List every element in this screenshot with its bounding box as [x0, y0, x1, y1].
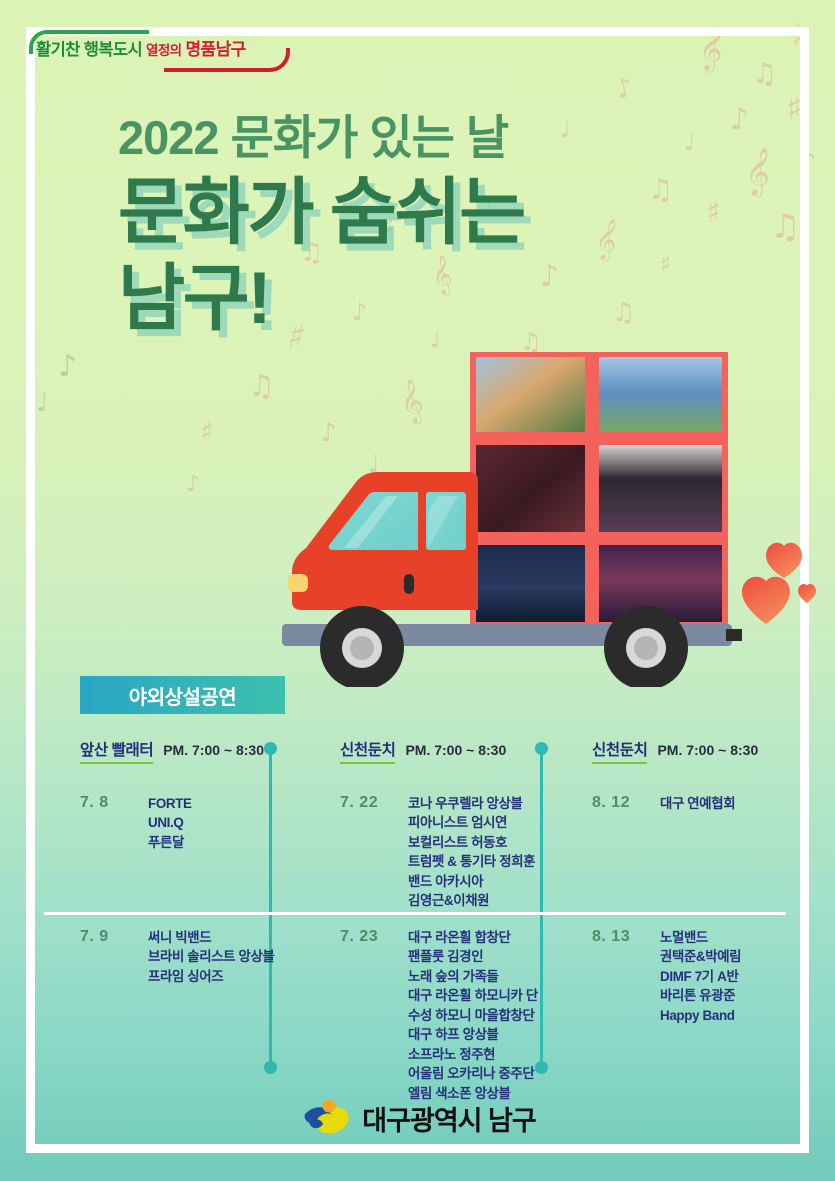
act-item: 밴드 아카시아	[408, 872, 535, 891]
act-item: 코나 우쿠렐라 앙상블	[408, 794, 535, 813]
red-delivery-truck	[278, 352, 748, 687]
act-item: 노래 숲의 가족들	[408, 967, 538, 986]
venue-time-1: PM. 7:00 ~ 8:30	[163, 742, 264, 758]
schedule-column-1-row2: 7. 9 써니 빅밴드 브라비 솔리스트 앙상블 프라임 싱어즈	[44, 928, 296, 1103]
headline-year-line: 2022 문화가 있는 날	[118, 112, 524, 164]
footer-logo-row: 대구광역시 남구	[0, 1098, 835, 1138]
act-item: 트럼펫 & 통기타 정희훈	[408, 852, 535, 871]
act-item: 대구 라온휠 하모니카 단	[408, 986, 538, 1005]
entry-date: 7. 9	[80, 928, 138, 986]
schedule-column-1: 앞산 빨래터 PM. 7:00 ~ 8:30 7. 8 FORTE UNI.Q …	[44, 738, 296, 911]
schedule-column-2-row2: 7. 23 대구 라온휠 합창단 팬플룻 김경인 노래 숲의 가족들 대구 라온…	[296, 928, 548, 1103]
act-item: 권택준&박예림	[660, 947, 741, 966]
venue-line-1: 앞산 빨래터 PM. 7:00 ~ 8:30	[80, 738, 296, 764]
schedule-entry: 7. 22 코나 우쿠렐라 앙상블 피아니스트 엄시연 보컬리스트 허동호 트럼…	[340, 794, 548, 911]
headline-big-line1-text: 문화가 숨쉬는	[118, 172, 524, 253]
act-item: 대구 하프 앙상블	[408, 1025, 538, 1044]
footer-org-name: 대구광역시 남구	[362, 1099, 535, 1138]
act-item: 보컬리스트 허동호	[408, 833, 535, 852]
venue-name-1: 앞산 빨래터	[80, 738, 153, 764]
schedule-grid: 앞산 빨래터 PM. 7:00 ~ 8:30 7. 8 FORTE UNI.Q …	[44, 738, 792, 1110]
act-item: 대구 연예협회	[660, 794, 735, 813]
act-item: 바리톤 유광준	[660, 986, 741, 1005]
act-item: 프라임 싱어즈	[148, 967, 274, 986]
act-item: FORTE	[148, 794, 192, 813]
venue-name-2: 신천둔치	[340, 738, 395, 764]
act-item: 수성 하모니 마을합창단	[408, 1006, 538, 1025]
schedule-row-divider	[44, 912, 786, 915]
entry-acts: 코나 우쿠렐라 앙상블 피아니스트 엄시연 보컬리스트 허동호 트럼펫 & 통기…	[408, 794, 535, 911]
performance-photo-grid	[470, 352, 728, 630]
act-item: 대구 라온휠 합창단	[408, 928, 538, 947]
headline-big-line1: 문화가 숨쉬는 문화가 숨쉬는	[118, 170, 524, 256]
act-item: 팬플룻 김경인	[408, 947, 538, 966]
schedule-entry: 7. 23 대구 라온휠 합창단 팬플룻 김경인 노래 숲의 가족들 대구 라온…	[340, 928, 548, 1103]
act-item: 노멀밴드	[660, 928, 741, 947]
slogan-part1: 활기찬 행복도시	[36, 41, 142, 59]
act-item: 브라비 솔리스트 앙상블	[148, 947, 274, 966]
entry-date: 8. 12	[592, 794, 650, 813]
slogan-text: 활기찬 행복도시 열정의 명품남구	[36, 35, 246, 60]
act-item: 푸른달	[148, 833, 192, 852]
entry-acts: 노멀밴드 권택준&박예림 DIMF 7기 A반 바리톤 유광준 Happy Ba…	[660, 928, 741, 1025]
venue-line-2: 신천둔치 PM. 7:00 ~ 8:30	[340, 738, 548, 764]
schedule-entry: 8. 13 노멀밴드 권택준&박예림 DIMF 7기 A반 바리톤 유광준 Ha…	[592, 928, 792, 1025]
act-item: 김영근&이채원	[408, 891, 535, 910]
schedule-entry: 7. 9 써니 빅밴드 브라비 솔리스트 앙상블 프라임 싱어즈	[80, 928, 296, 986]
entry-acts: 대구 라온휠 합창단 팬플룻 김경인 노래 숲의 가족들 대구 라온휠 하모니카…	[408, 928, 538, 1103]
city-slogan-badge: 활기찬 행복도시 열정의 명품남구	[24, 28, 304, 73]
entry-date: 7. 22	[340, 794, 398, 911]
venue-name-3: 신천둔치	[592, 738, 647, 764]
schedule-entry: 8. 12 대구 연예협회	[592, 794, 792, 813]
act-item: UNI.Q	[148, 813, 192, 832]
slogan-part3: 명품남구	[185, 40, 245, 59]
headline-big-line2-text: 남구!	[118, 258, 269, 339]
three-red-hearts	[742, 518, 835, 633]
act-item: DIMF 7기 A반	[660, 967, 741, 986]
slogan-part2: 열정의	[146, 43, 181, 58]
act-item: 피아니스트 엄시연	[408, 813, 535, 832]
schedule-entry: 7. 8 FORTE UNI.Q 푸른달	[80, 794, 296, 852]
headline-big-line2: 남구! 남구!	[118, 256, 524, 342]
act-item: Happy Band	[660, 1006, 741, 1025]
act-item: 써니 빅밴드	[148, 928, 274, 947]
section-badge-label: 야외상설공연	[129, 681, 236, 710]
schedule-column-2: 신천둔치 PM. 7:00 ~ 8:30 7. 22 코나 우쿠렐라 앙상블 피…	[296, 738, 548, 911]
act-item: 어울림 오카리나 중주단	[408, 1064, 538, 1083]
section-badge-outdoor-performance: 야외상설공연	[80, 676, 285, 714]
act-item: 소프라노 정주현	[408, 1045, 538, 1064]
poster-headline: 2022 문화가 있는 날 문화가 숨쉬는 문화가 숨쉬는 남구! 남구!	[118, 112, 524, 342]
entry-date: 7. 8	[80, 794, 138, 852]
entry-date: 8. 13	[592, 928, 650, 1025]
venue-time-3: PM. 7:00 ~ 8:30	[657, 742, 758, 758]
poster-root: 𝄞 ♫ ♯ ♪ ♯ ♩ 𝄞 ♪ ♯ ♫ ♪ ♩ ♫ 𝄞 ♯ ♪ ♫ ♩ 𝄞 ♯ …	[0, 0, 835, 1181]
entry-acts: 써니 빅밴드 브라비 솔리스트 앙상블 프라임 싱어즈	[148, 928, 274, 986]
venue-line-3: 신천둔치 PM. 7:00 ~ 8:30	[592, 738, 792, 764]
daegu-namgu-swoosh-logo	[299, 1098, 351, 1138]
schedule-column-3: 신천둔치 PM. 7:00 ~ 8:30 8. 12 대구 연예협회	[548, 738, 792, 911]
entry-date: 7. 23	[340, 928, 398, 1103]
schedule-row-2: 7. 9 써니 빅밴드 브라비 솔리스트 앙상블 프라임 싱어즈 7. 23 대…	[44, 928, 792, 1103]
schedule-row-1: 앞산 빨래터 PM. 7:00 ~ 8:30 7. 8 FORTE UNI.Q …	[44, 738, 792, 911]
schedule-column-3-row2: 8. 13 노멀밴드 권택준&박예림 DIMF 7기 A반 바리톤 유광준 Ha…	[548, 928, 792, 1103]
entry-acts: FORTE UNI.Q 푸른달	[148, 794, 192, 852]
venue-time-2: PM. 7:00 ~ 8:30	[405, 742, 506, 758]
entry-acts: 대구 연예협회	[660, 794, 735, 813]
